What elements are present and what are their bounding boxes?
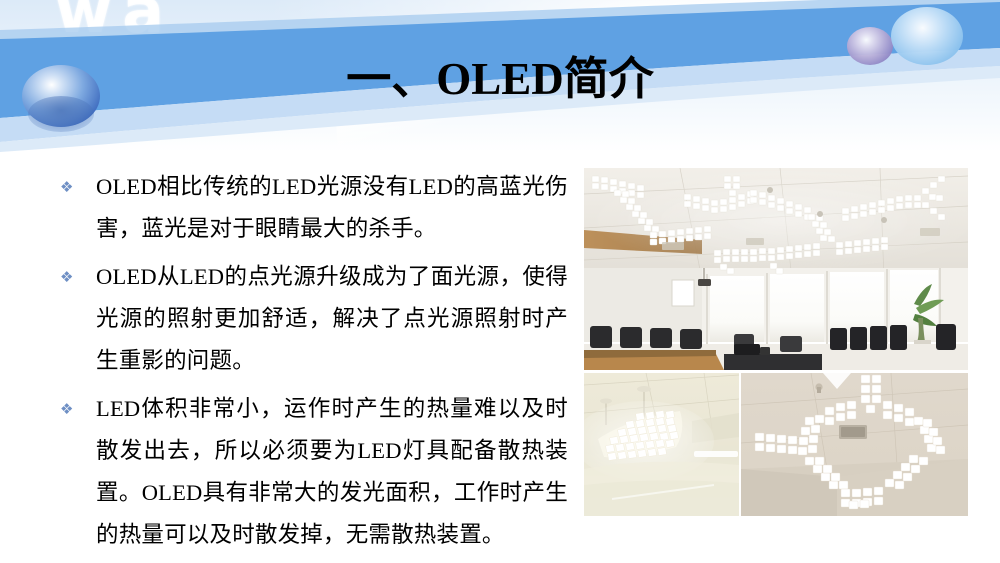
- diamond-bullet-icon: ❖: [56, 166, 96, 208]
- list-item: ❖ OLED从LED的点光源升级成为了面光源，使得光源的照射更加舒适，解决了点光…: [56, 256, 568, 382]
- slide: wa 一、OLED简介 ❖ OLED相比传统的LED光源没有LED的高蓝光伤害，…: [0, 0, 1000, 563]
- bullet-list: ❖ OLED相比传统的LED光源没有LED的高蓝光伤害，蓝光是对于眼睛最大的杀手…: [56, 166, 568, 562]
- list-item-text: LED体积非常小，运作时产生的热量难以及时散发出去，所以必须要为LED灯具配备散…: [96, 388, 568, 556]
- photo-conference-room-oled-ceiling: [584, 168, 968, 370]
- list-item-text: OLED从LED的点光源升级成为了面光源，使得光源的照射更加舒适，解决了点光源照…: [96, 256, 568, 382]
- list-item: ❖ LED体积非常小，运作时产生的热量难以及时散发出去，所以必须要为LED灯具配…: [56, 388, 568, 556]
- diamond-bullet-icon: ❖: [56, 256, 96, 298]
- list-item-text: OLED相比传统的LED光源没有LED的高蓝光伤害，蓝光是对于眼睛最大的杀手。: [96, 166, 568, 250]
- list-item: ❖ OLED相比传统的LED光源没有LED的高蓝光伤害，蓝光是对于眼睛最大的杀手…: [56, 166, 568, 250]
- photo-panel: [584, 168, 968, 516]
- diamond-bullet-icon: ❖: [56, 388, 96, 430]
- photo-hexagon-oled-ceiling-light: [741, 373, 968, 516]
- page-title: 一、OLED简介: [0, 52, 1000, 106]
- photo-curved-oled-panel-light: [584, 373, 739, 516]
